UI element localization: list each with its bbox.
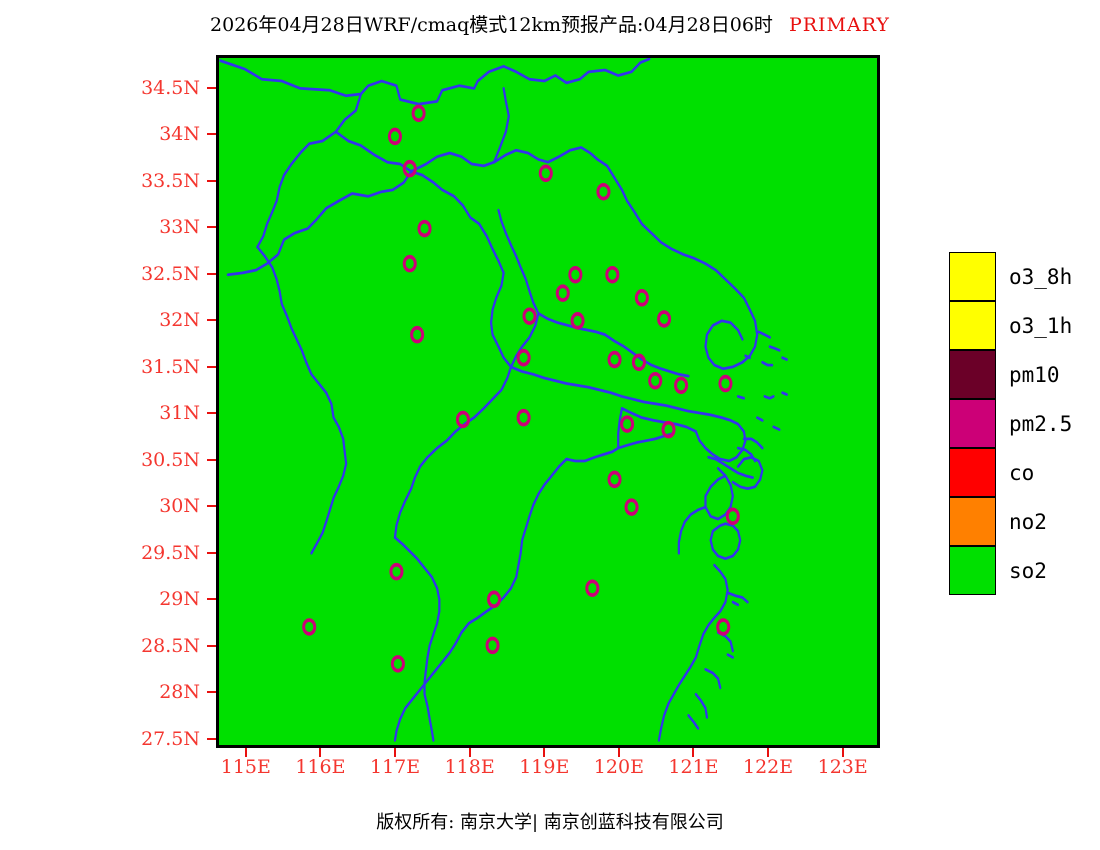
x-tick-label: 116E [295,756,345,778]
y-tick-label: 28N [100,681,200,703]
title-main-text: 2026年04月28日WRF/cmaq模式12km预报产品:04月28日06时 [210,14,773,36]
station-marker[interactable] [391,565,402,579]
station-marker[interactable] [518,351,529,365]
station-marker[interactable] [587,581,598,595]
station-marker[interactable] [609,353,620,367]
station-marker[interactable] [598,185,609,199]
x-tick-label: 119E [519,756,569,778]
station-marker[interactable] [488,592,499,606]
station-marker[interactable] [570,268,581,282]
legend-label: pm10 [1009,363,1060,387]
legend-color-swatch [949,546,996,595]
y-tick-mark [207,645,216,647]
station-marker[interactable] [609,473,620,487]
legend-label: no2 [1009,510,1047,534]
y-tick-label: 30.5N [100,449,200,471]
x-tick-mark [469,748,471,757]
copyright-footer: 版权所有: 南京大学| 南京创蓝科技有限公司 [0,808,1100,834]
legend-color-swatch [949,497,996,546]
legend-color-swatch [949,399,996,448]
station-markers [304,106,739,670]
station-marker[interactable] [659,312,670,326]
legend-label: o3_1h [1009,314,1072,338]
y-tick-label: 29.5N [100,542,200,564]
y-tick-mark [207,412,216,414]
y-tick-mark [207,598,216,600]
station-marker[interactable] [392,657,403,671]
station-marker[interactable] [626,500,637,514]
page-title: 2026年04月28日WRF/cmaq模式12km预报产品:04月28日06时P… [0,10,1100,37]
x-tick-mark [692,748,694,757]
y-tick-label: 29N [100,588,200,610]
station-marker[interactable] [607,268,618,282]
x-tick-label: 123E [818,756,868,778]
legend-color-swatch [949,350,996,399]
station-marker[interactable] [636,291,647,305]
x-tick-label: 121E [668,756,718,778]
station-marker[interactable] [518,411,529,425]
y-tick-label: 33.5N [100,170,200,192]
y-tick-label: 33N [100,216,200,238]
y-tick-mark [207,691,216,693]
y-tick-label: 31N [100,402,200,424]
station-marker[interactable] [557,286,568,300]
x-tick-label: 117E [370,756,420,778]
y-tick-mark [207,505,216,507]
station-marker[interactable] [650,374,661,388]
station-marker[interactable] [720,377,731,391]
y-tick-mark [207,273,216,275]
legend-color-swatch [949,252,996,301]
station-marker[interactable] [727,509,738,523]
x-tick-mark [842,748,844,757]
y-tick-mark [207,133,216,135]
station-marker[interactable] [540,166,551,180]
station-marker[interactable] [622,417,633,431]
x-tick-label: 122E [743,756,793,778]
x-tick-mark [319,748,321,757]
station-marker[interactable] [304,620,315,634]
station-marker[interactable] [487,638,498,652]
map-vector-layer [219,58,877,745]
y-tick-mark [207,366,216,368]
y-tick-mark [207,319,216,321]
y-tick-label: 32.5N [100,263,200,285]
legend-label: so2 [1009,559,1047,583]
station-marker[interactable] [718,620,729,634]
legend-label: co [1009,461,1034,485]
station-marker[interactable] [572,314,583,328]
y-tick-label: 28.5N [100,635,200,657]
y-tick-label: 32N [100,309,200,331]
y-tick-label: 31.5N [100,356,200,378]
legend-label: pm2.5 [1009,412,1072,436]
station-marker[interactable] [413,106,424,120]
map-plot-area[interactable] [216,55,880,748]
y-tick-label: 34.5N [100,77,200,99]
station-marker[interactable] [524,309,535,323]
y-tick-mark [207,226,216,228]
x-tick-mark [245,748,247,757]
x-tick-label: 118E [445,756,495,778]
y-tick-label: 34N [100,123,200,145]
station-marker[interactable] [412,328,423,342]
legend-color-swatch [949,448,996,497]
legend-label: o3_8h [1009,265,1072,289]
station-marker[interactable] [676,378,687,392]
y-tick-label: 30N [100,495,200,517]
x-tick-label: 120E [594,756,644,778]
y-tick-mark [207,738,216,740]
x-tick-mark [767,748,769,757]
station-marker[interactable] [389,129,400,143]
province-boundaries [220,59,786,740]
y-tick-mark [207,180,216,182]
y-tick-label: 27.5N [100,728,200,750]
legend-color-swatch [949,301,996,350]
y-tick-mark [207,87,216,89]
x-tick-label: 115E [221,756,271,778]
station-marker[interactable] [419,222,430,236]
y-tick-mark [207,552,216,554]
x-tick-mark [394,748,396,757]
y-tick-mark [207,459,216,461]
x-tick-mark [618,748,620,757]
station-marker[interactable] [404,257,415,271]
x-tick-mark [543,748,545,757]
title-primary-tag: PRIMARY [789,14,890,36]
